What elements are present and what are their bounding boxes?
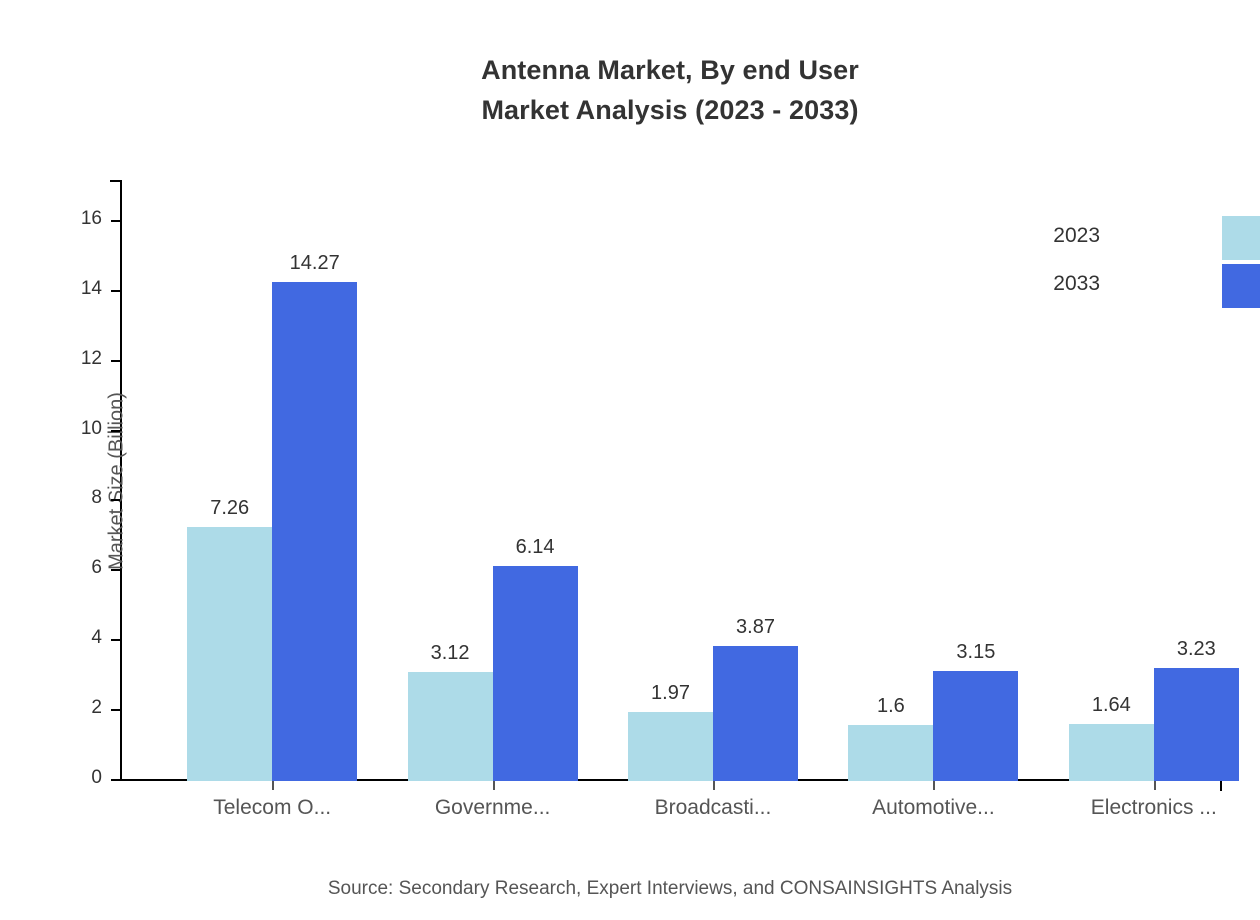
bar-value-label: 3.15 — [956, 641, 995, 664]
bar-2023-0[interactable]: 7.26 — [187, 527, 272, 781]
x-axis-right-cap — [1220, 781, 1222, 791]
bar-2023-4[interactable]: 1.64 — [1069, 724, 1154, 781]
y-tick-label: 16 — [81, 208, 102, 230]
bar-value-label: 1.97 — [651, 682, 690, 705]
y-tick-label: 6 — [91, 557, 102, 579]
legend-label-2023: 2023 — [1053, 224, 1100, 248]
plot-area: Market Size (Billion) 0246810121416 7.26… — [120, 180, 1222, 781]
y-tick: 14 — [111, 290, 120, 292]
y-tick: 0 — [111, 779, 120, 781]
bar-value-label: 6.14 — [516, 536, 555, 559]
x-tick — [933, 781, 935, 790]
bar-value-label: 1.64 — [1092, 694, 1131, 717]
bar-2023-2[interactable]: 1.97 — [628, 712, 713, 781]
bar-value-label: 7.26 — [210, 497, 249, 520]
x-tick — [1154, 781, 1156, 790]
x-tick — [713, 781, 715, 790]
y-tick: 12 — [111, 360, 120, 362]
bar-2033-0[interactable]: 14.27 — [272, 282, 357, 781]
x-tick — [272, 781, 274, 790]
y-tick-label: 0 — [91, 767, 102, 789]
x-tick — [493, 781, 495, 790]
x-category-label: Electronics ... — [1091, 796, 1217, 820]
y-tick-label: 2 — [91, 697, 102, 719]
bar-2023-1[interactable]: 3.12 — [408, 672, 493, 781]
bar-value-label: 3.23 — [1177, 638, 1216, 661]
x-category-label: Broadcasti... — [655, 796, 772, 820]
y-tick: 4 — [111, 639, 120, 641]
y-tick-label: 8 — [91, 487, 102, 509]
chart-title-line-2: Market Analysis (2023 - 2033) — [0, 90, 1260, 130]
y-axis-label: Market Size (Billion) — [105, 392, 128, 570]
y-tick: 6 — [111, 569, 120, 571]
x-category-label: Telecom O... — [213, 796, 331, 820]
y-tick-label: 12 — [81, 348, 102, 370]
bar-value-label: 3.87 — [736, 616, 775, 639]
legend-swatch-2023 — [1222, 216, 1260, 260]
bar-2023-3[interactable]: 1.6 — [848, 725, 933, 781]
x-category-label: Governme... — [435, 796, 551, 820]
legend-swatch-2033 — [1222, 264, 1260, 308]
source-note: Source: Secondary Research, Expert Inter… — [0, 878, 1260, 900]
bar-2033-1[interactable]: 6.14 — [493, 566, 578, 781]
chart-title: Antenna Market, By end User Market Analy… — [0, 50, 1260, 130]
y-axis-top-cap — [110, 180, 120, 182]
bar-2033-2[interactable]: 3.87 — [713, 646, 798, 781]
bar-chart: Antenna Market, By end User Market Analy… — [0, 0, 1260, 920]
legend-label-2033: 2033 — [1053, 272, 1100, 296]
chart-title-line-1: Antenna Market, By end User — [481, 55, 859, 85]
y-tick-label: 10 — [81, 418, 102, 440]
x-category-label: Automotive... — [872, 796, 995, 820]
y-tick: 2 — [111, 709, 120, 711]
y-tick: 8 — [111, 499, 120, 501]
bar-value-label: 1.6 — [877, 695, 905, 718]
bar-2033-3[interactable]: 3.15 — [933, 671, 1018, 781]
y-tick: 10 — [111, 430, 120, 432]
y-tick: 16 — [111, 220, 120, 222]
bar-value-label: 14.27 — [290, 252, 340, 275]
y-tick-label: 4 — [91, 627, 102, 649]
bar-value-label: 3.12 — [431, 642, 470, 665]
y-tick-label: 14 — [81, 278, 102, 300]
bar-2033-4[interactable]: 3.23 — [1154, 668, 1239, 781]
